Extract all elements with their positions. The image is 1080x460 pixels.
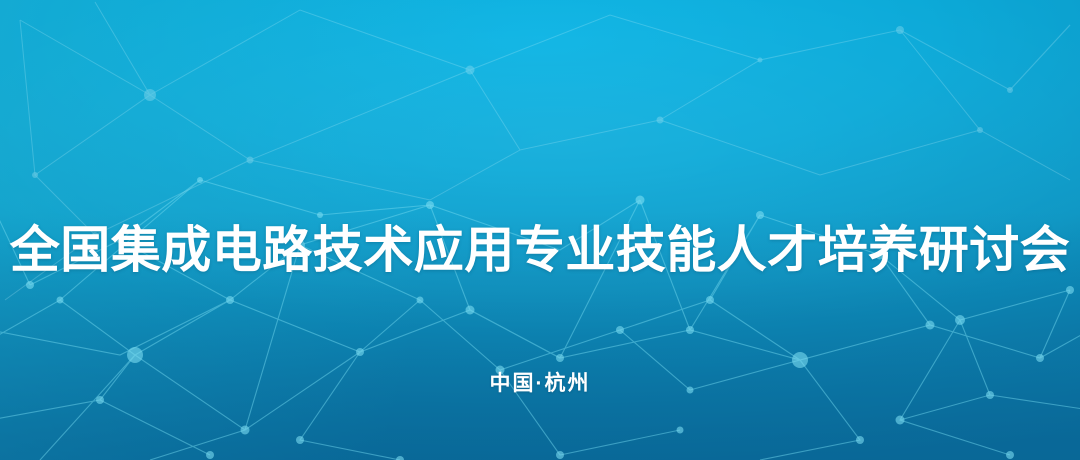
event-location: 中国·杭州 <box>0 370 1080 398</box>
banner-content: 一技赢天下同芯向未来 全国集成电路技术应用专业技能人才培养研讨会 中国·杭州 <box>0 0 1080 460</box>
conference-banner: 一技赢天下同芯向未来 全国集成电路技术应用专业技能人才培养研讨会 中国·杭州 <box>0 0 1080 460</box>
page-title: 全国集成电路技术应用专业技能人才培养研讨会 <box>0 222 1080 278</box>
